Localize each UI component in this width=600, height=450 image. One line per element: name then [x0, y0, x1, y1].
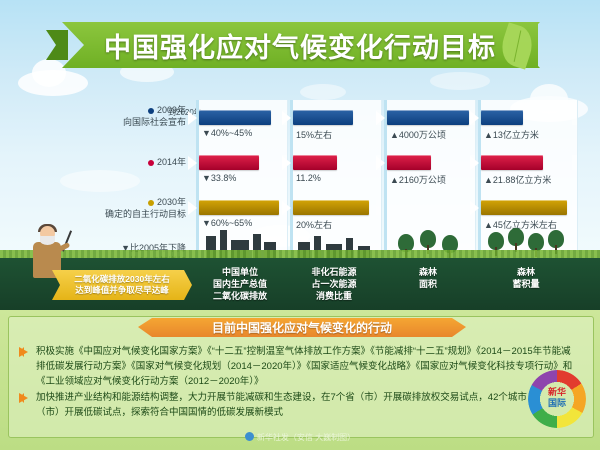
action-paragraph-1-text: 积极实施《中国应对气候变化国家方案》《“十二五”控制温室气体排放工作方案》《节能… — [36, 346, 572, 387]
category-line-2: 占一次能源 — [290, 278, 378, 290]
category-label-4: 森林 蓄积量 — [478, 266, 574, 306]
callout-line-2: 达到峰值并争取尽早达峰 — [75, 285, 169, 296]
category-line-3: 消费比重 — [290, 290, 378, 302]
bar-2009 — [293, 110, 353, 125]
legend-item-2030: 2030年 确定的自主行动目标 — [36, 196, 186, 220]
arrow-pointer-icon — [282, 111, 291, 125]
bar-2030 — [481, 200, 567, 215]
bar-group-2014: 11.2% — [293, 155, 381, 183]
man-beard — [40, 236, 55, 245]
logo-line-1: 新华 — [540, 387, 574, 398]
infographic-poster: 中国强化应对气候变化行动目标 2009年 向国际社会宣布 2014年 2030年… — [0, 0, 600, 450]
bullet-arrow-icon — [19, 347, 28, 357]
bar-group-2009: 15%左右 — [293, 110, 381, 141]
bar-2014 — [293, 155, 337, 170]
bar-group-2030: ▼60%~65% — [199, 200, 287, 228]
xinhua-logo: 新华 国际 — [528, 370, 586, 428]
bar-2009 — [199, 110, 271, 125]
category-line-2: 国内生产总值 — [196, 278, 284, 290]
bar-2009 — [387, 110, 469, 125]
callout-line-1: 二氧化碳排放2030年左右 — [74, 274, 169, 285]
bar-value-2030: 20%左右 — [293, 218, 381, 231]
arrow-pointer-icon — [376, 156, 385, 170]
legend-item-2014: 2014年 — [36, 156, 186, 168]
bar-2030 — [199, 200, 279, 215]
action-paragraph-2: 加快推进产业结构和能源结构调整，大力开展节能减碳和生态建设，在7个省（市）开展碳… — [36, 390, 541, 420]
arrow-pointer-icon — [282, 156, 291, 170]
category-line-1: 森林 — [478, 266, 574, 278]
legend-year-2030: 2030年 — [157, 197, 186, 207]
bar-group-2009: ▲13亿立方米 — [481, 110, 577, 141]
bar-group-2014: ▼33.8% — [199, 155, 287, 183]
bullet-arrow-icon — [19, 393, 28, 403]
bar-2014 — [387, 155, 431, 170]
bar-2014 — [199, 155, 259, 170]
bar-value-2014: ▼33.8% — [199, 173, 287, 183]
arrow-pointer-icon — [188, 156, 197, 170]
credit-text: 新华社发（安信 大巍制图） — [257, 433, 355, 442]
arrow-pointer-icon — [282, 201, 291, 215]
bar-group-2030: ▲45亿立方米左右 — [481, 200, 577, 231]
arrow-pointer-icon — [470, 111, 479, 125]
category-label-2: 非化石能源 占一次能源 消费比重 — [290, 266, 378, 306]
arrow-pointer-icon — [470, 201, 479, 215]
category-label-1: 中国单位 国内生产总值 二氧化碳排放 — [196, 266, 284, 306]
bar-2014 — [481, 155, 543, 170]
title-banner: 中国强化应对气候变化行动目标 — [62, 22, 538, 70]
action-paragraph-2-text: 加快推进产业结构和能源结构调整，大力开展节能减碳和生态建设，在7个省（市）开展碳… — [36, 392, 527, 418]
category-line-1: 森林 — [384, 266, 472, 278]
page-title: 中国强化应对气候变化行动目标 — [62, 22, 538, 68]
legend-year-2014: 2014年 — [157, 157, 186, 167]
bar-2009 — [481, 110, 523, 125]
credit-line: 新华社发（安信 大巍制图） — [0, 432, 600, 443]
legend-sub-2030: 确定的自主行动目标 — [36, 208, 186, 220]
bar-value-2014: ▲21.88亿立方米 — [481, 173, 577, 186]
bar-value-2009: ▲13亿立方米 — [481, 128, 577, 141]
bar-value-2030: ▼60%~65% — [199, 218, 287, 228]
gold-dot-icon — [148, 200, 154, 206]
bar-value-2014: 11.2% — [293, 173, 381, 183]
cloud-icon — [18, 70, 88, 96]
arrow-pointer-icon — [188, 111, 197, 125]
logo-line-2: 国际 — [540, 398, 574, 409]
arrow-pointer-icon — [470, 156, 479, 170]
actions-ribbon-title: 目前中国强化应对气候变化的行动 — [138, 318, 466, 337]
category-line-1: 中国单位 — [196, 266, 284, 278]
category-line-2: 面积 — [384, 278, 472, 290]
legend-item-2009: 2009年 向国际社会宣布 — [36, 104, 186, 128]
bar-group-2009: ▼40%~45% — [199, 110, 287, 138]
red-dot-icon — [148, 160, 154, 166]
bar-group-2030: 20%左右 — [293, 200, 381, 231]
category-line-3: 二氧化碳排放 — [196, 290, 284, 302]
action-paragraph-1: 积极实施《中国应对气候变化国家方案》《“十二五”控制温室气体排放工作方案》《节能… — [36, 344, 576, 389]
arrow-pointer-icon — [188, 201, 197, 215]
bar-group-2009: ▲4000万公顷 — [387, 110, 475, 141]
cloud-icon — [300, 84, 346, 100]
cloud-icon — [430, 72, 490, 90]
bar-value-2009: 15%左右 — [293, 128, 381, 141]
bar-group-2014: ▲2160万公顷 — [387, 155, 475, 186]
bar-value-2009: ▼40%~45% — [199, 128, 287, 138]
category-line-1: 非化石能源 — [290, 266, 378, 278]
xinhua-icon — [245, 432, 254, 441]
arrow-pointer-icon — [376, 111, 385, 125]
bar-2030 — [293, 200, 369, 215]
category-line-2: 蓄积量 — [478, 278, 574, 290]
blue-dot-icon — [148, 108, 154, 114]
bar-value-2014: ▲2160万公顷 — [387, 173, 475, 186]
category-label-3: 森林 面积 — [384, 266, 472, 306]
logo-text: 新华 国际 — [540, 387, 574, 409]
bar-group-2014: ▲21.88亿立方米 — [481, 155, 577, 186]
bar-value-2009: ▲4000万公顷 — [387, 128, 475, 141]
peak-callout-banner: 二氧化碳排放2030年左右 达到峰值并争取尽早达峰 — [52, 270, 192, 300]
legend-sub-2009: 向国际社会宣布 — [36, 116, 186, 128]
